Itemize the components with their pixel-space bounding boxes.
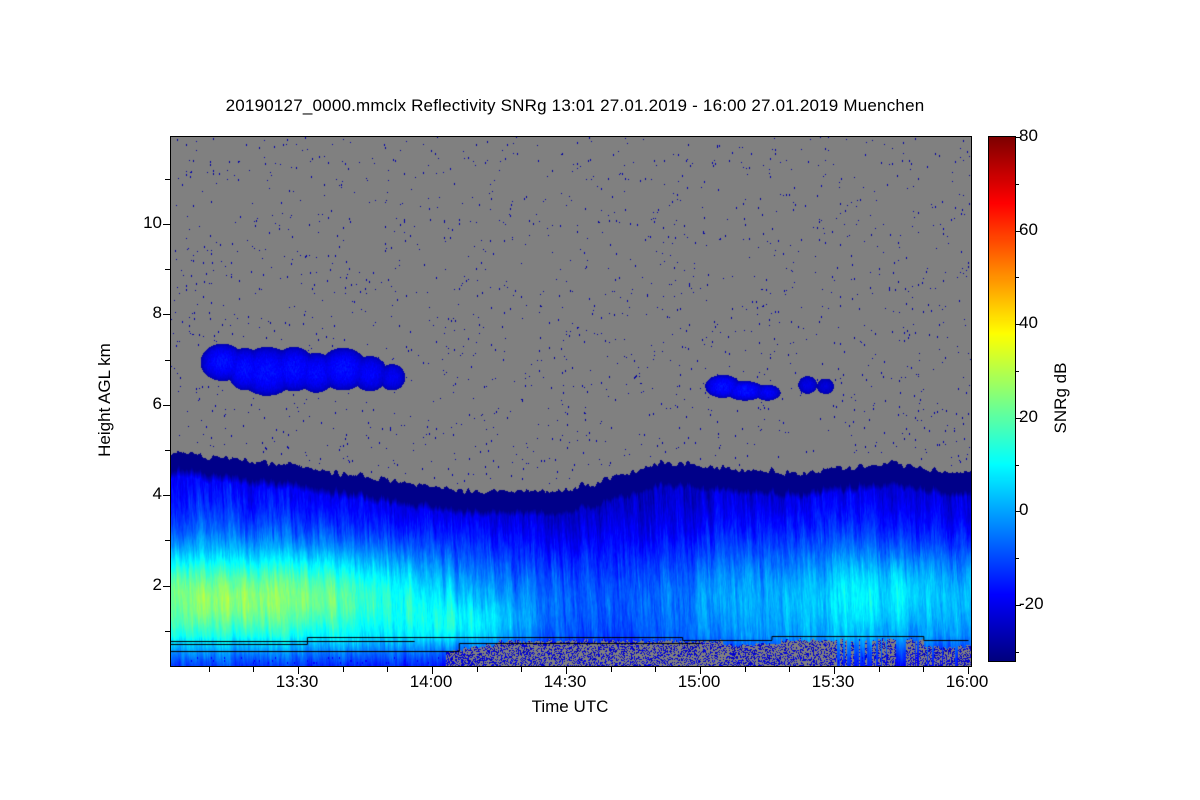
y-axis-tick-label: 10 bbox=[10, 213, 162, 233]
x-axis-tick bbox=[432, 666, 433, 674]
colorbar-minor-tick bbox=[1015, 652, 1019, 653]
x-axis-tick-labels: 13:3014:0014:3015:0015:3016:00 bbox=[170, 672, 970, 702]
y-axis-tick-label: 6 bbox=[10, 394, 162, 414]
x-axis-minor-tick bbox=[655, 666, 656, 672]
x-axis-minor-tick bbox=[745, 666, 746, 672]
y-axis-tick-label: 4 bbox=[10, 484, 162, 504]
colorbar-minor-tick bbox=[1015, 465, 1019, 466]
x-axis-minor-tick bbox=[521, 666, 522, 672]
plot-area bbox=[170, 136, 972, 667]
colorbar bbox=[988, 136, 1016, 662]
figure-title: 20190127_0000.mmclx Reflectivity SNRg 13… bbox=[0, 96, 1150, 116]
y-axis-minor-tick bbox=[165, 360, 171, 361]
y-axis-tick-label: 2 bbox=[10, 575, 162, 595]
x-axis-minor-tick bbox=[477, 666, 478, 672]
colorbar-tick-label: 20 bbox=[1019, 407, 1038, 427]
x-axis-minor-tick bbox=[789, 666, 790, 672]
colorbar-gradient bbox=[989, 137, 1015, 661]
colorbar-minor-tick bbox=[1015, 277, 1019, 278]
x-axis-tick-label: 16:00 bbox=[946, 672, 989, 692]
colorbar-tick-label: 80 bbox=[1019, 126, 1038, 146]
reflectivity-heatmap bbox=[171, 137, 971, 666]
y-axis-minor-tick bbox=[165, 269, 171, 270]
x-axis-tick bbox=[700, 666, 701, 674]
x-axis-tick bbox=[834, 666, 835, 674]
colorbar-title: SNRg dB bbox=[1051, 363, 1071, 434]
y-axis-tick bbox=[163, 224, 171, 225]
colorbar-minor-tick bbox=[1015, 558, 1019, 559]
radar-time-height-figure: 20190127_0000.mmclx Reflectivity SNRg 13… bbox=[0, 0, 1200, 800]
x-axis-minor-tick bbox=[253, 666, 254, 672]
x-axis-minor-tick bbox=[343, 666, 344, 672]
x-axis-tick-label: 15:00 bbox=[678, 672, 721, 692]
y-axis-tick-labels: 246810 bbox=[0, 136, 162, 665]
colorbar-tick-label: 60 bbox=[1019, 220, 1038, 240]
x-axis-minor-tick bbox=[879, 666, 880, 672]
x-axis-minor-tick bbox=[387, 666, 388, 672]
colorbar-tick-label: 40 bbox=[1019, 313, 1038, 333]
x-axis-tick bbox=[298, 666, 299, 674]
y-axis-minor-tick bbox=[165, 450, 171, 451]
y-axis-tick bbox=[163, 405, 171, 406]
x-axis-tick bbox=[566, 666, 567, 674]
y-axis-tick bbox=[163, 314, 171, 315]
x-axis-minor-tick bbox=[209, 666, 210, 672]
y-axis-minor-tick bbox=[165, 179, 171, 180]
y-axis-tick-label: 8 bbox=[10, 303, 162, 323]
x-axis-minor-tick bbox=[923, 666, 924, 672]
y-axis-tick bbox=[163, 586, 171, 587]
y-axis-minor-tick bbox=[165, 631, 171, 632]
y-axis-minor-tick bbox=[165, 540, 171, 541]
colorbar-minor-tick bbox=[1015, 371, 1019, 372]
x-axis-tick bbox=[968, 666, 969, 674]
x-axis-tick-label: 15:30 bbox=[812, 672, 855, 692]
x-axis-tick-label: 14:00 bbox=[410, 672, 453, 692]
colorbar-minor-tick bbox=[1015, 184, 1019, 185]
colorbar-tick-label: -20 bbox=[1019, 594, 1044, 614]
x-axis-tick-label: 14:30 bbox=[544, 672, 587, 692]
y-axis-tick bbox=[163, 495, 171, 496]
x-axis-tick-label: 13:30 bbox=[276, 672, 319, 692]
x-axis-minor-tick bbox=[611, 666, 612, 672]
colorbar-tick-label: 0 bbox=[1019, 500, 1028, 520]
